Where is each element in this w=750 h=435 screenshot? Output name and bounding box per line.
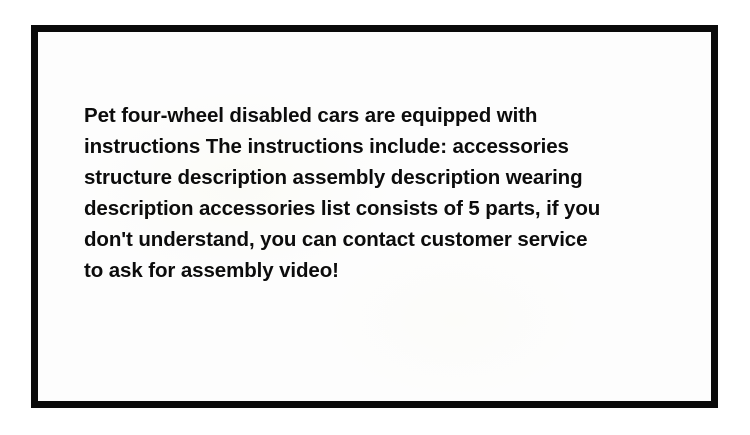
screenshot-root: Pet four-wheel disabled cars are equippe… <box>0 0 750 435</box>
description-text: Pet four-wheel disabled cars are equippe… <box>84 100 664 286</box>
product-description-card: Pet four-wheel disabled cars are equippe… <box>31 25 718 408</box>
